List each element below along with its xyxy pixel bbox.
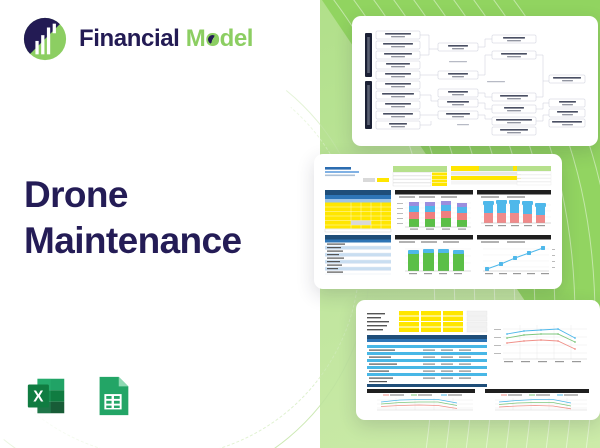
dupont-tree-diagram <box>359 23 591 139</box>
page-title: Drone Maintenance <box>24 172 242 265</box>
circular-chart-logo-icon <box>22 16 68 62</box>
preview-card-dashboard[interactable] <box>314 154 562 289</box>
svg-text:X: X <box>33 389 44 406</box>
excel-icon[interactable]: X <box>24 373 70 419</box>
page-title-line-1: Drone <box>24 172 242 218</box>
page-title-line-2: Maintenance <box>24 218 242 264</box>
brand-lockup: Financial Model <box>22 16 253 62</box>
brand-word-model-del: del <box>220 25 253 52</box>
preview-card-financial-statements[interactable] <box>356 300 600 420</box>
brand-word-model-o: o <box>205 25 219 53</box>
preview-card-dupont-tree[interactable] <box>352 16 598 146</box>
dashboard-screenshot <box>321 161 555 282</box>
brand-name: Financial Model <box>79 25 253 53</box>
file-format-icons: X <box>24 373 136 419</box>
brand-word-financial: Financial <box>79 25 179 52</box>
brand-word-model-m: M <box>186 25 206 52</box>
google-sheets-icon[interactable] <box>90 373 136 419</box>
financial-statements-screenshot <box>363 307 593 413</box>
